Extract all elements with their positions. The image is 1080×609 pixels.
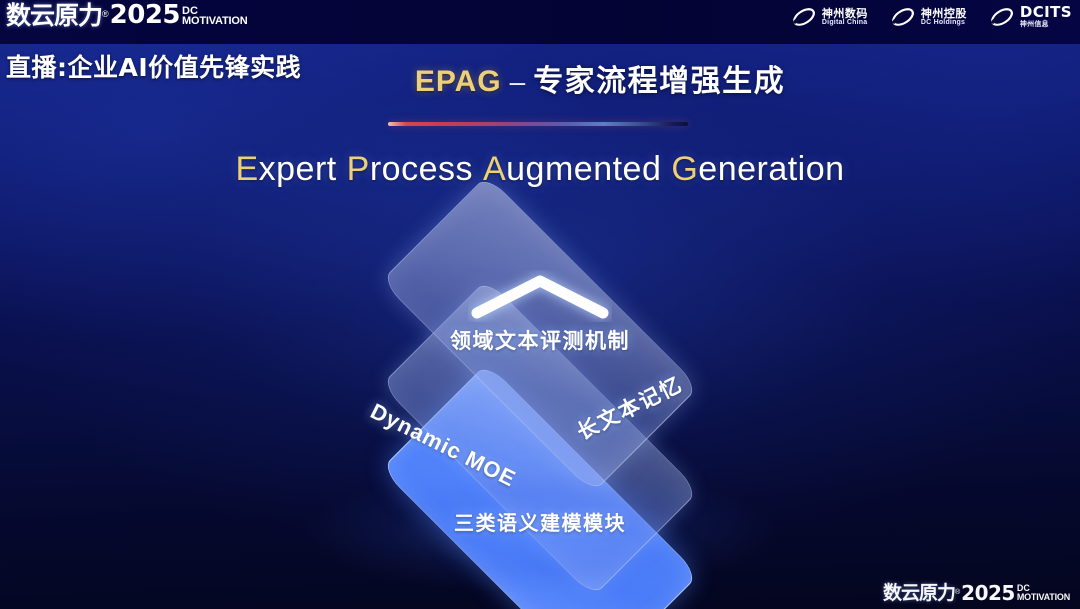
live-broadcast-title: 直播:企业AI价值先锋实践 xyxy=(6,48,301,84)
partner-logo-group: 神州数码 Digital China 神州控股 DC Holdings xyxy=(791,4,1072,30)
subtitle-cap-p: P xyxy=(347,150,370,188)
title-dash: – xyxy=(510,66,526,97)
swoosh-icon xyxy=(890,4,916,30)
gradient-rule xyxy=(388,122,688,126)
partner-name-cn: 神州控股 xyxy=(921,8,967,20)
partner-logo-digital-china: 神州数码 Digital China xyxy=(791,4,868,30)
brand-dc-motivation: DC MOTIVATION xyxy=(182,6,247,26)
subtitle-expansion: Expert Process Augmented Generation xyxy=(0,150,1080,189)
layer-stack-diagram: 领域文本评测机制 Dynamic MOE 长文本记忆 三类语义建模模块 xyxy=(278,222,802,574)
brand-name-cn: 数云原力 xyxy=(6,3,102,28)
subtitle-word-expert: xpert xyxy=(259,150,337,188)
brand-logo: 数云原力 ® 2025 DC MOTIVATION xyxy=(6,2,247,28)
footer-watermark: 数云原力 ® 2025 DC MOTIVATION xyxy=(883,583,1070,603)
subtitle-word-process: rocess xyxy=(370,150,473,188)
swoosh-icon xyxy=(791,4,817,30)
partner-logo-dcits: DCITS 神州信息 xyxy=(989,4,1072,30)
subtitle-word-augmented: ugmented xyxy=(506,150,661,188)
watermark-name-cn: 数云原力 xyxy=(883,584,955,603)
swoosh-icon xyxy=(989,4,1015,30)
title-chinese: 专家流程增强生成 xyxy=(533,64,785,99)
partner-label: 神州控股 DC Holdings xyxy=(921,8,967,27)
layer-label-top: 领域文本评测机制 xyxy=(450,325,630,355)
registered-mark: ® xyxy=(102,9,109,19)
watermark-dc-motivation: DC MOTIVATION xyxy=(1017,584,1070,601)
subtitle-cap-g: G xyxy=(671,150,698,188)
chevron-up-icon xyxy=(468,270,612,322)
partner-logo-dc-holdings: 神州控股 DC Holdings xyxy=(890,4,967,30)
partner-label: DCITS 神州信息 xyxy=(1020,5,1072,28)
partner-name-en: DC Holdings xyxy=(921,19,967,26)
layer-label-bottom: 三类语义建模模块 xyxy=(454,507,626,536)
brand-year: 2025 xyxy=(110,2,180,28)
partner-label: 神州数码 Digital China xyxy=(822,8,868,27)
subtitle-cap-a: A xyxy=(483,150,506,188)
subtitle-cap-e: E xyxy=(235,150,258,188)
brand-motivation-label: MOTIVATION xyxy=(182,16,247,26)
partner-name-cn: 神州数码 xyxy=(822,8,868,20)
watermark-motivation-label: MOTIVATION xyxy=(1017,593,1070,601)
partner-name-en: Digital China xyxy=(822,19,868,26)
partner-name-cn: DCITS xyxy=(1020,5,1072,21)
watermark-year: 2025 xyxy=(961,583,1015,603)
subtitle-word-generation: eneration xyxy=(698,150,844,188)
slide-canvas: 数云原力 ® 2025 DC MOTIVATION 直播:企业AI价值先锋实践 … xyxy=(0,0,1080,609)
watermark-registered-mark: ® xyxy=(955,589,960,596)
partner-name-en: 神州信息 xyxy=(1020,21,1072,28)
title-acronym: EPAG xyxy=(415,65,502,98)
